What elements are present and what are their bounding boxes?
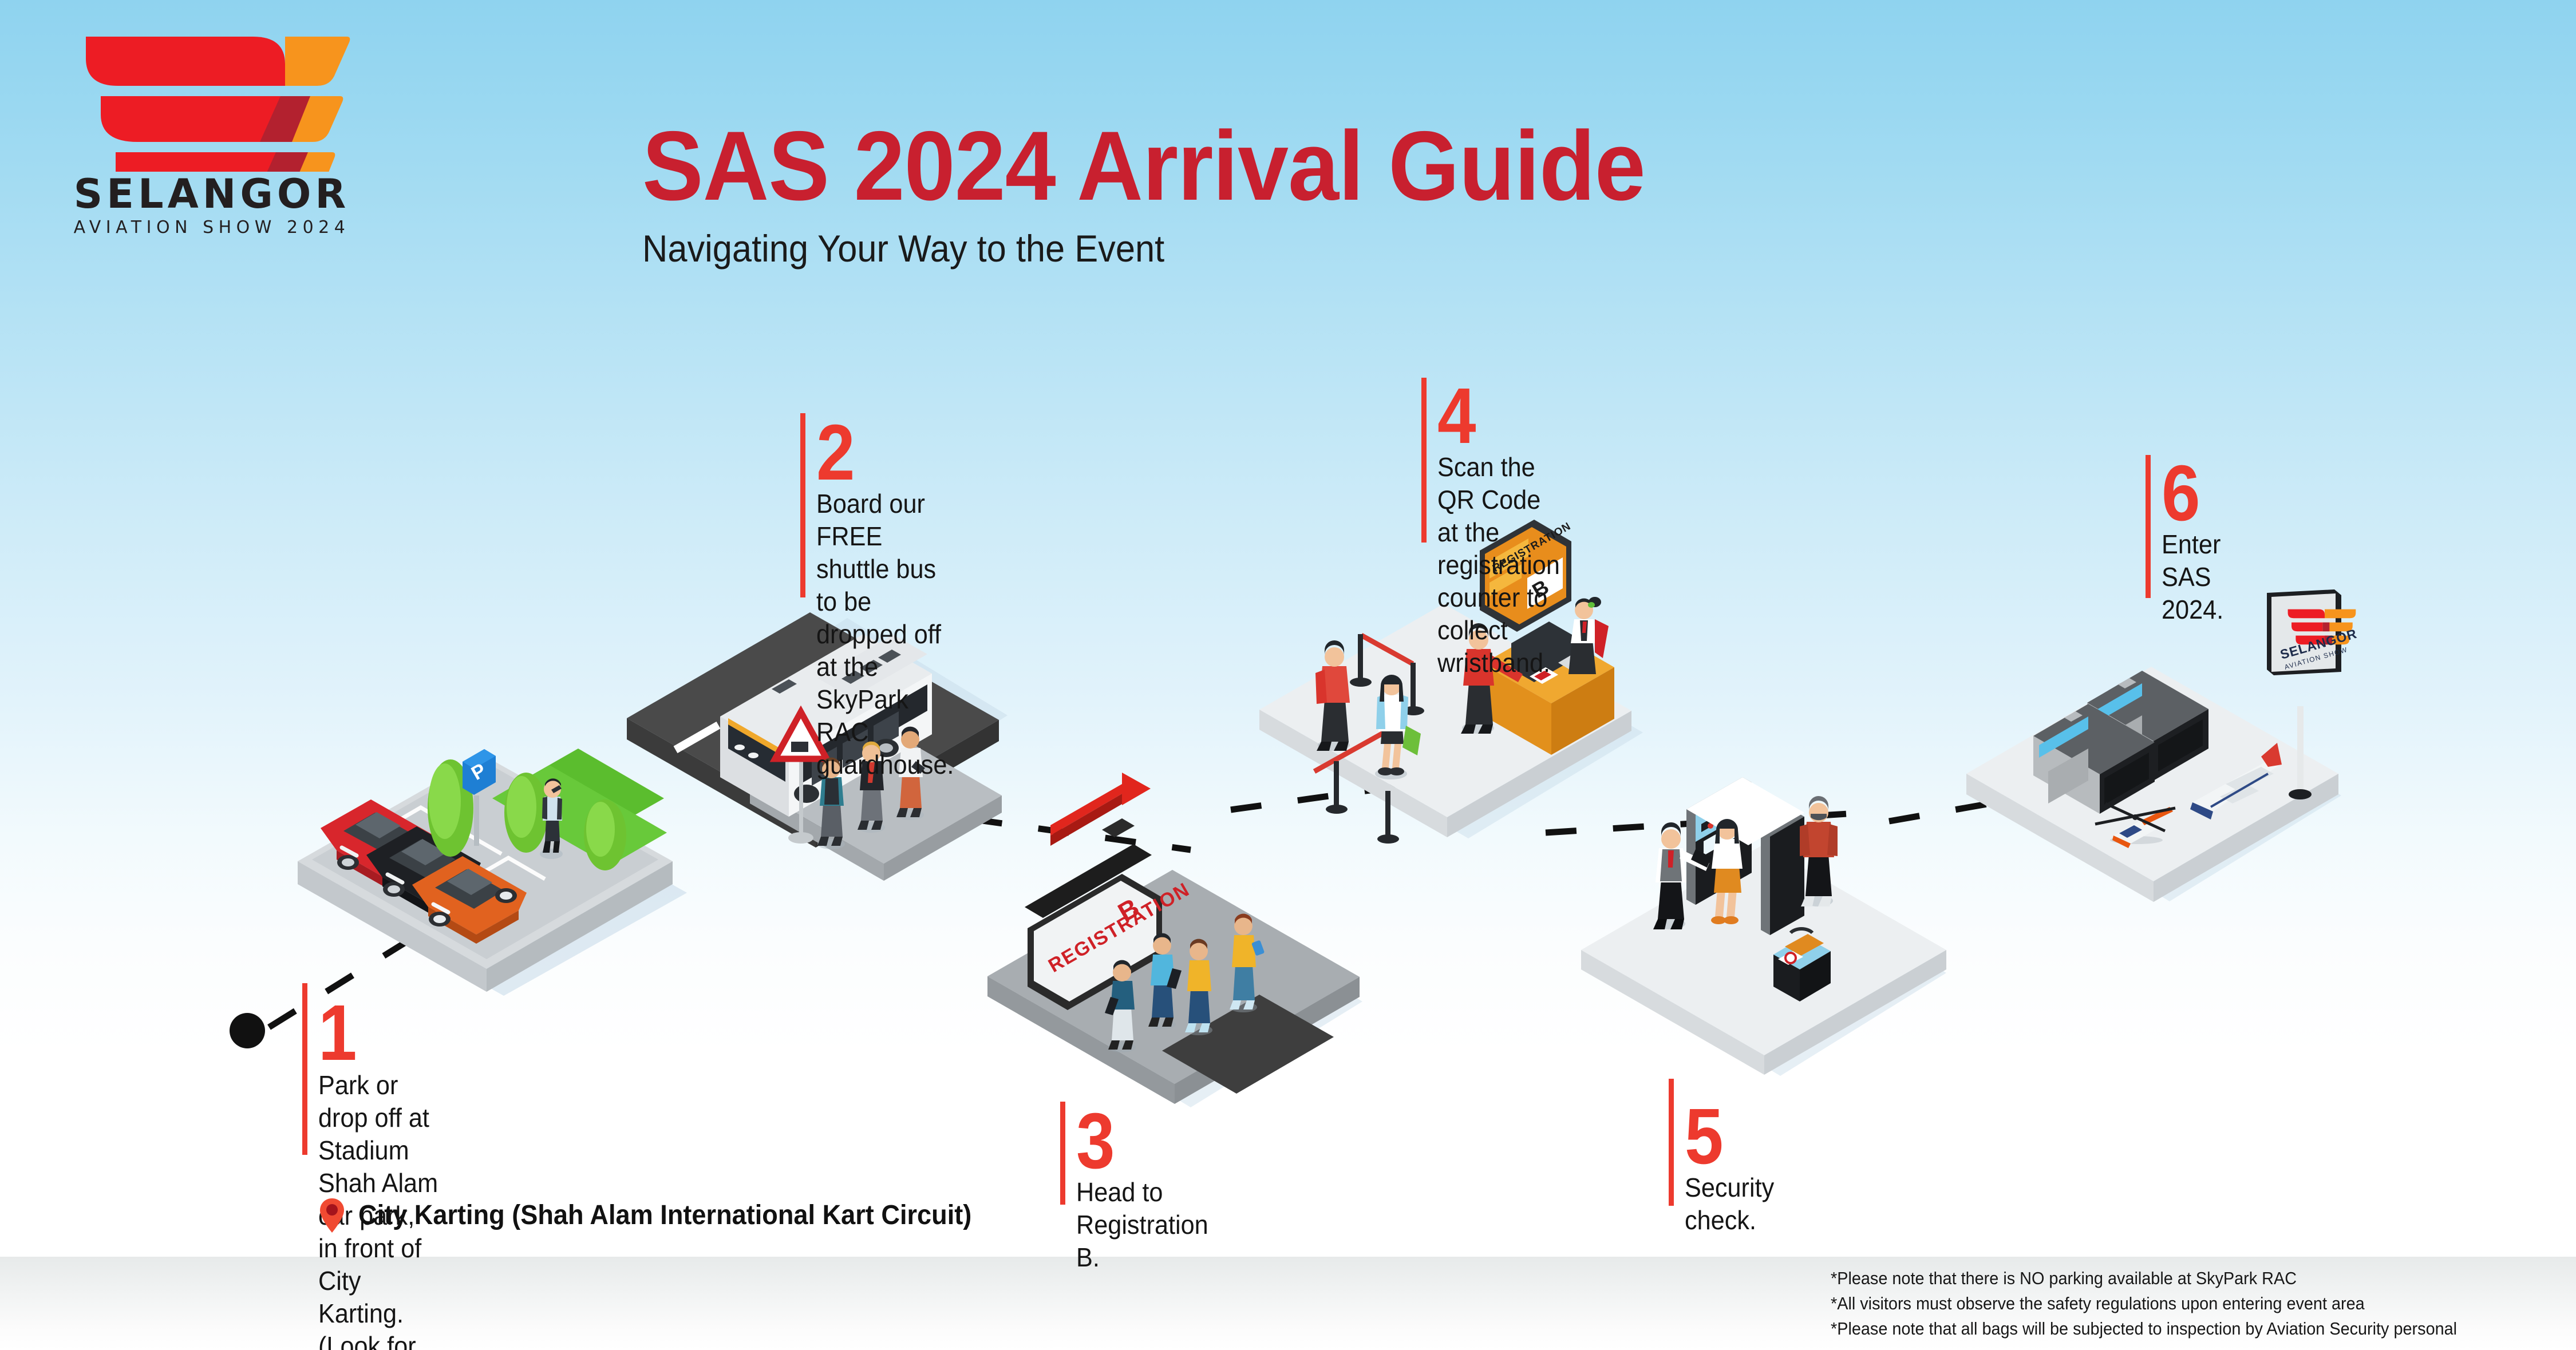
step-number: 3 [1076, 1107, 1115, 1175]
step-text: Board our FREE shuttle bus to be dropped… [816, 488, 954, 781]
step-number: 6 [2162, 460, 2200, 527]
scene-parking-lot: P [298, 749, 687, 996]
step-text: Scan the QR Code at the registration cou… [1437, 451, 1560, 679]
step-text: Enter SAS 2024. [2162, 528, 2223, 626]
logo-subwordmark: AVIATION SHOW 2024 [49, 216, 375, 239]
step-number: 5 [1685, 1103, 1724, 1170]
step-accent-bar [1669, 1079, 1674, 1206]
location-label: City Karting (Shah Alam International Ka… [358, 1199, 971, 1232]
brand-logo: SELANGOR AVIATION SHOW 2024 [49, 29, 375, 229]
location-callout: City Karting (Shah Alam International Ka… [318, 1197, 1011, 1234]
map-pin-icon [318, 1197, 346, 1234]
step-accent-bar [1060, 1102, 1065, 1205]
infographic-canvas: P [0, 0, 2576, 1350]
scene-event-venue: SELANGOR AVIATION SHOW [1966, 589, 2358, 902]
scene-registration-signboard: REGISTRATION B [987, 773, 1362, 1107]
step-text: Head to Registration B. [1076, 1176, 1208, 1274]
page-subtitle: Navigating Your Way to the Event [642, 228, 1164, 269]
step-accent-bar [302, 983, 307, 1155]
page-title: SAS 2024 Arrival Guide [642, 114, 1645, 217]
step-accent-bar [2146, 455, 2151, 598]
step-text: Security check. [1685, 1171, 1774, 1237]
wing-mark-icon [49, 29, 375, 172]
footnotes: *Please note that there is NO parking av… [1831, 1266, 2457, 1341]
step-accent-bar [1421, 378, 1427, 543]
step-accent-bar [800, 413, 805, 597]
logo-wordmark: SELANGOR [49, 172, 375, 216]
step-number: 4 [1437, 382, 1476, 450]
step-number: 1 [318, 999, 357, 1067]
step-number: 2 [816, 419, 855, 486]
